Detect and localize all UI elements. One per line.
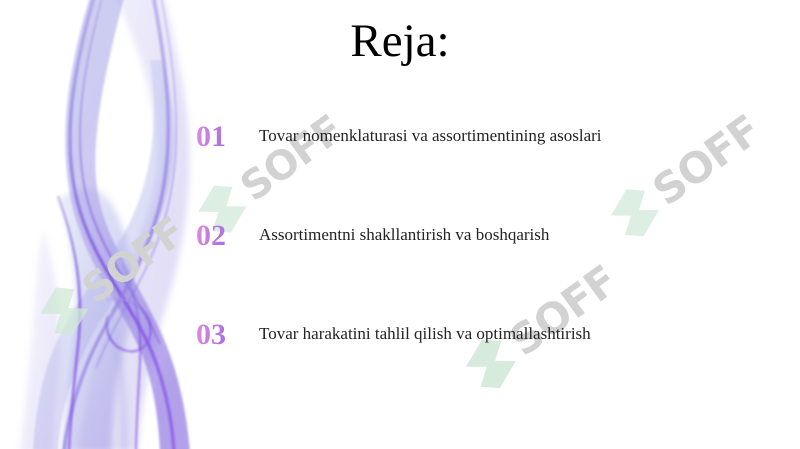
list-item: 01 Tovar nomenklaturasi va assortimentin… [196,122,786,221]
list-item: 02 Assortimentni shakllantirish va boshq… [196,221,786,320]
page-title: Reja: [180,14,620,68]
agenda-item-text: Tovar harakatini tahlil qilish va optima… [259,324,591,344]
watermark-soff: SOFF [31,206,195,345]
agenda-item-number: 03 [196,320,226,350]
watermark-text: SOFF [76,211,191,310]
agenda-item-text: Tovar nomenklaturasi va assortimentining… [259,126,602,146]
agenda-list: 01 Tovar nomenklaturasi va assortimentin… [196,122,786,419]
soff-logo-icon [31,277,99,346]
agenda-item-number: 02 [196,221,226,251]
agenda-item-text: Assortimentni shakllantirish va boshqari… [259,225,549,245]
list-item: 03 Tovar harakatini tahlil qilish va opt… [196,320,786,419]
abstract-ribbon-decoration [0,0,200,449]
agenda-item-number: 01 [196,122,226,152]
slide-root: SOFF SOFF SOFF SOFF Reja: 01 Tovar nomen… [0,0,800,449]
